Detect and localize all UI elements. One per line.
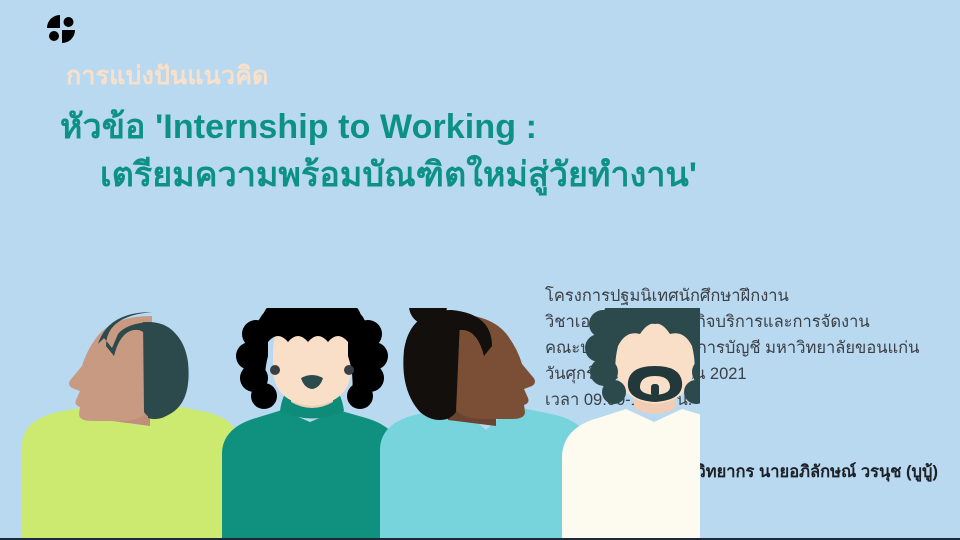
- person-3-profile-right-bun: [380, 308, 590, 538]
- quadrant-circle-logo-icon: [46, 14, 76, 44]
- title-line-2: เตรียมความพร้อมบัณฑิตใหม่สู่วัยทำงาน': [60, 151, 820, 199]
- speaker-label: โดยวิทยากร นายอภิลักษณ์ วรนุช (บูบู้): [667, 459, 938, 485]
- person-4-front-beard: [562, 308, 700, 538]
- page-title: หัวข้อ 'Internship to Working : เตรียมคว…: [60, 103, 820, 200]
- event-detail-line-1: โครงการปฐมนิเทศนักศึกษาฝึกงาน: [545, 283, 945, 309]
- person-1-profile-left: [22, 312, 240, 538]
- slide-eyebrow: การแบ่งปันแนวคิด: [66, 62, 269, 91]
- brand-logo: [46, 14, 76, 44]
- person-2-front-curly: [222, 308, 400, 538]
- four-people-illustration: [0, 308, 700, 538]
- title-line-1: หัวข้อ 'Internship to Working :: [60, 103, 820, 151]
- presentation-slide: การแบ่งปันแนวคิด หัวข้อ 'Internship to W…: [0, 0, 960, 540]
